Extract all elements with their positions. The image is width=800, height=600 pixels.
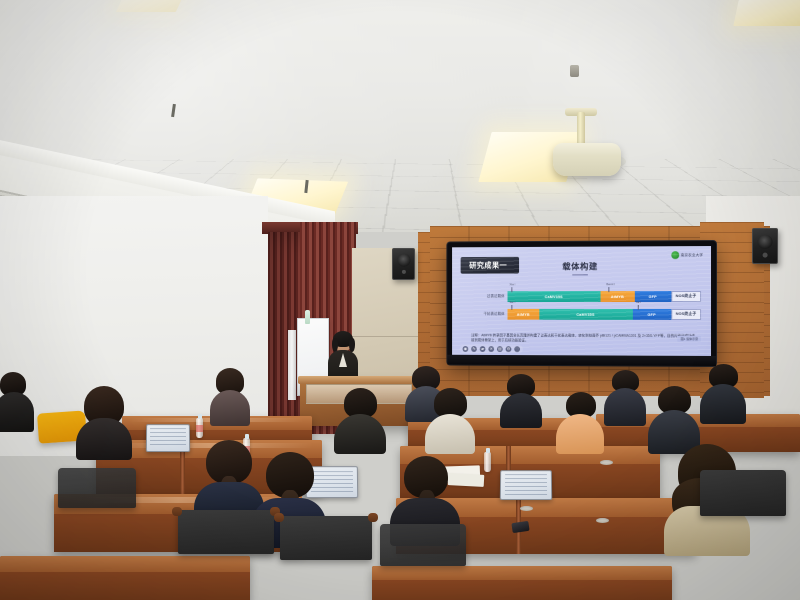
diagram-row: 过表达载体 CaMV35S AtMYB GFP NOS终止子 <box>465 290 701 303</box>
desk-cable-grommet <box>600 460 613 465</box>
water-bottle <box>484 452 491 472</box>
speaker-cone <box>758 235 773 249</box>
screen-bezel <box>447 355 716 366</box>
university-logo: 南京农业大学 <box>671 251 703 259</box>
diagram-segment: NOS终止子 <box>671 309 701 320</box>
torso <box>76 418 132 460</box>
laptop[interactable] <box>500 470 552 500</box>
presentation-toolbar[interactable]: ◉ ✎ ▰ ✕ ▤ ⚙ ⋯ <box>460 345 523 353</box>
desk-cable-grommet <box>520 506 533 511</box>
laptop-screen[interactable] <box>500 470 552 500</box>
audience-member <box>210 368 250 424</box>
restriction-site-label: Sac I <box>509 301 515 304</box>
diagram-segment: NOS终止子 <box>671 291 701 302</box>
audience-member <box>648 386 700 452</box>
slide-surface[interactable]: 研究成果一 载体构建 南京农业大学 过表达载体 CaMV35S AtMYB GF… <box>452 246 711 356</box>
torso <box>334 414 386 454</box>
torso <box>500 393 542 428</box>
desk-row <box>372 566 672 600</box>
diagram-segment: AtMYB <box>508 309 539 320</box>
diagram-segment: CaMV35S <box>539 309 632 320</box>
diagram-segment: AtMYB <box>600 291 634 302</box>
desk-surface <box>0 556 250 572</box>
pointer-icon[interactable]: ◉ <box>463 346 469 352</box>
speaker-cone <box>397 254 410 267</box>
torso <box>556 414 604 454</box>
ceiling-panel-light <box>733 0 800 26</box>
restriction-site-label: BamH I <box>606 283 614 286</box>
diagram-row: 干扰表达载体 AtMYB CaMV35S GFP NOS终止子 <box>465 308 701 321</box>
torso <box>604 388 646 426</box>
projection-screen[interactable]: 研究成果一 载体构建 南京农业大学 过表达载体 CaMV35S AtMYB GF… <box>447 241 716 366</box>
restriction-site-label: Xba I <box>509 283 515 286</box>
diagram-segment: GFP <box>632 309 671 320</box>
wall-speaker-right <box>752 228 778 264</box>
chair-back <box>700 470 786 516</box>
water-bottle <box>305 310 310 324</box>
more-icon[interactable]: ⋯ <box>514 346 520 352</box>
chair-back <box>178 510 274 554</box>
eraser-icon[interactable]: ✕ <box>488 346 494 352</box>
slide-note-text: 注释：AtMYB 转录因子基因全长克隆并构建了过表达和干扰表达载体，转化到拟南芥… <box>471 333 695 344</box>
laptop-screen[interactable] <box>146 424 190 452</box>
vector-construct-diagram: 过表达载体 CaMV35S AtMYB GFP NOS终止子 干扰表达载体 At… <box>465 288 701 328</box>
podium-top <box>298 376 420 384</box>
diagram-row-label: 过表达载体 <box>465 295 507 299</box>
sprinkler-head <box>570 65 579 77</box>
laptop[interactable] <box>146 424 190 452</box>
desk-front-panel <box>372 580 672 600</box>
wall-speaker-left <box>392 248 415 280</box>
slides-icon[interactable]: ▤ <box>497 346 503 352</box>
audience-member <box>700 364 746 422</box>
laptop-content <box>150 428 185 448</box>
chair-back <box>380 524 466 566</box>
slide-figure-caption: 图1 载体示意 <box>678 336 701 342</box>
desk-cable-grommet <box>596 518 609 523</box>
chair-armrest <box>172 507 182 516</box>
speaker-tweeter <box>763 252 768 257</box>
torso <box>210 390 250 426</box>
pen-icon[interactable]: ✎ <box>471 346 477 352</box>
desk-surface <box>372 566 672 580</box>
settings-icon[interactable]: ⚙ <box>506 346 512 352</box>
audience-member <box>556 392 604 452</box>
chair-back <box>58 468 136 508</box>
audience-member <box>0 372 34 430</box>
logo-emblem-icon <box>671 251 679 259</box>
highlighter-icon[interactable]: ▰ <box>480 346 486 352</box>
audience-member <box>336 388 384 450</box>
audience-member <box>76 386 132 456</box>
lecture-hall-scene: 研究成果一 载体构建 南京农业大学 过表达载体 CaMV35S AtMYB GF… <box>0 0 800 600</box>
laptop-content <box>505 474 547 496</box>
presenter-hair-side <box>349 338 355 352</box>
torso <box>0 392 34 432</box>
chair-armrest <box>274 513 284 522</box>
diagram-row-label: 干扰表达载体 <box>465 312 507 316</box>
chair-armrest <box>368 513 378 522</box>
chair-back <box>280 516 372 560</box>
logo-name: 南京农业大学 <box>681 253 703 258</box>
desk-row <box>0 556 250 600</box>
torso <box>700 384 746 424</box>
ceiling-projector <box>553 143 621 176</box>
speaker-tweeter <box>401 270 405 274</box>
torso <box>425 414 475 454</box>
slide-title-underline <box>572 274 588 275</box>
slide-title: 载体构建 <box>452 260 711 273</box>
audience-member <box>500 374 542 426</box>
whiteboard-stand <box>288 330 296 400</box>
ceiling-panel-light <box>116 0 184 12</box>
restriction-site-label: Sal I <box>636 301 641 304</box>
diagram-segment: CaMV35S <box>508 291 601 302</box>
bottle-label <box>196 425 203 432</box>
audience-member <box>604 370 646 424</box>
desk-front-panel <box>0 572 250 600</box>
audience-member <box>426 388 474 450</box>
